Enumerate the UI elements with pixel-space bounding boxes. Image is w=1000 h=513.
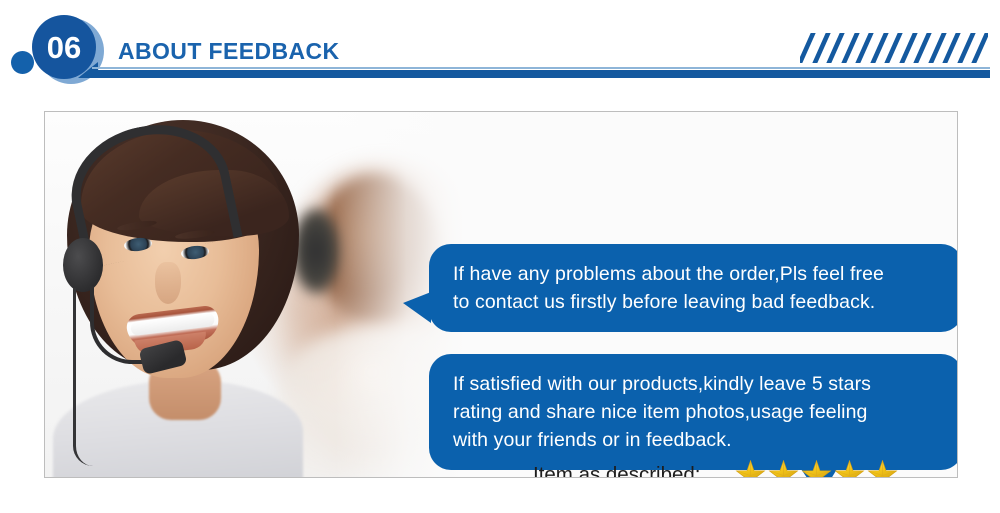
- star-icon: [834, 460, 865, 479]
- star-icon: [735, 460, 766, 479]
- rating-stars: [735, 460, 898, 479]
- rating-row: Item as described:: [533, 456, 953, 478]
- rating-label: Item as described:: [533, 463, 729, 478]
- bubble-text-line: with your friends or in feedback.: [453, 426, 941, 454]
- star-icon: [867, 460, 898, 479]
- section-header: 06 ABOUT FEEDBACK: [0, 0, 1000, 95]
- headset-earcup-icon: [63, 238, 103, 292]
- agent-photo: [45, 112, 465, 477]
- header-rule-thick: [92, 70, 990, 78]
- speech-bubble-order-problem: If have any problems about the order,Pls…: [429, 244, 958, 332]
- star-icon: [768, 460, 799, 479]
- section-number: 06: [47, 32, 81, 63]
- headset-boom-icon: [90, 286, 146, 364]
- star-icon: [801, 460, 832, 479]
- bubble-text-line: If have any problems about the order,Pls…: [453, 260, 941, 288]
- header-rule-thin: [92, 67, 990, 69]
- speech-bubble-tail-left-icon: [403, 292, 431, 323]
- diagonal-stripes-icon: [800, 33, 988, 63]
- speech-bubble-leave-rating: If satisfied with our products,kindly le…: [429, 354, 958, 470]
- agent-nose: [155, 262, 181, 304]
- page-title: ABOUT FEEDBACK: [118, 38, 340, 65]
- background-colleague-headset-icon: [292, 208, 340, 294]
- content-panel: If have any problems about the order,Pls…: [44, 111, 958, 478]
- bubble-text-line: rating and share nice item photos,usage …: [453, 398, 941, 426]
- accent-dot-icon: [11, 51, 34, 74]
- rating-list: Item as described: Communication: Shippi…: [533, 456, 953, 478]
- headset-cable-icon: [73, 288, 93, 466]
- bubble-text-line: to contact us firstly before leaving bad…: [453, 288, 941, 316]
- feedback-banner: 06 ABOUT FEEDBACK: [0, 0, 1000, 513]
- bubble-text-line: If satisfied with our products,kindly le…: [453, 370, 941, 398]
